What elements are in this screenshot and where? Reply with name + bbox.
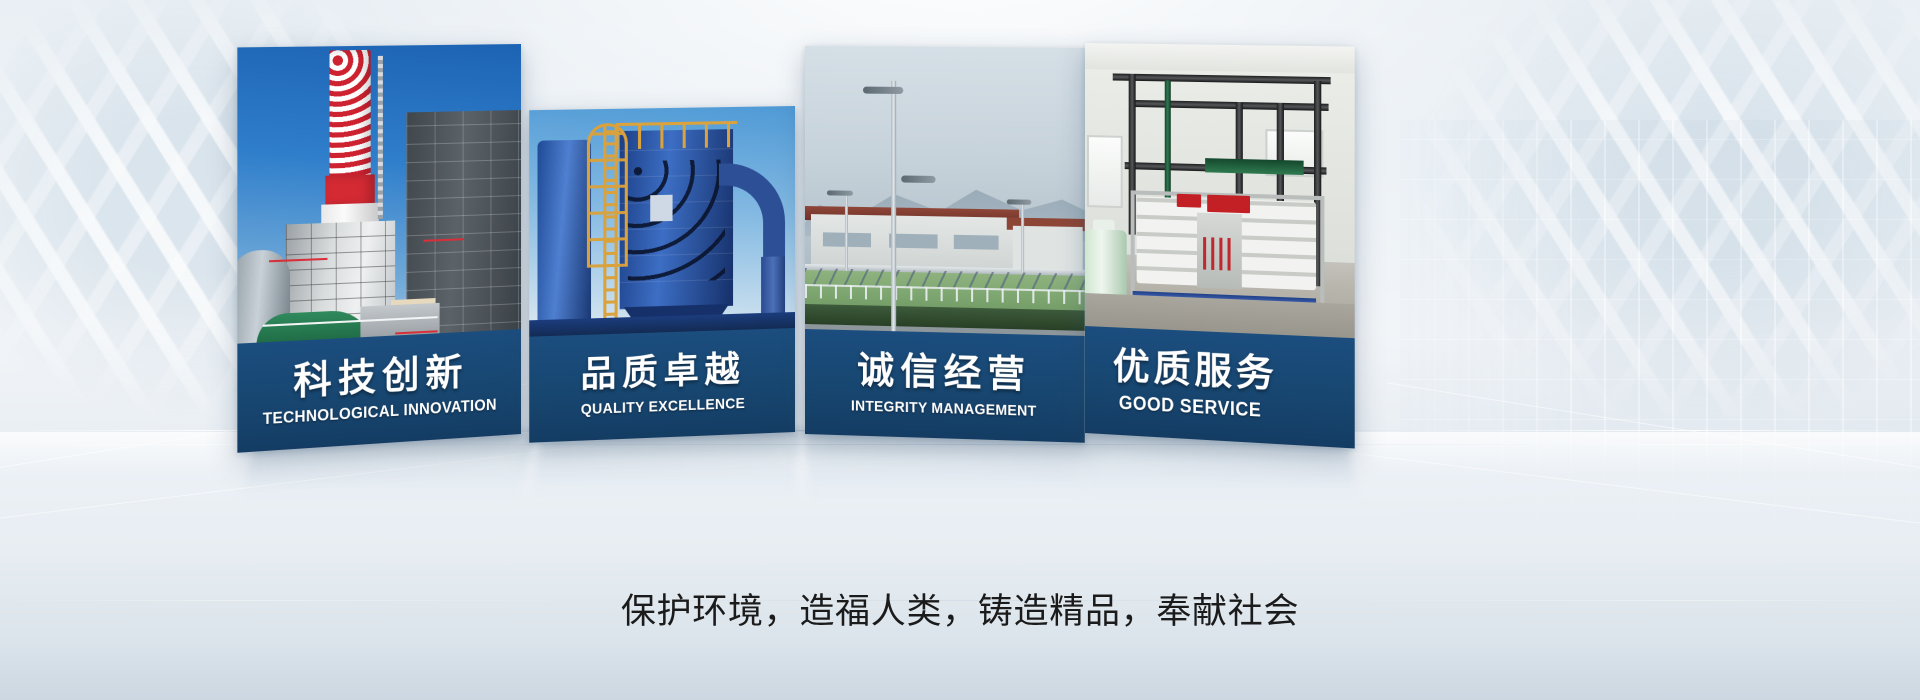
warning-sign-small <box>1177 194 1201 208</box>
panel-title-en-4: GOOD SERVICE <box>1119 393 1262 423</box>
cabinet-indicator-strip <box>1203 237 1236 271</box>
panel-caption-3: 诚信经营 INTEGRITY MANAGEMENT <box>805 329 1085 443</box>
panel-title-cn-2: 品质卓越 <box>581 351 746 394</box>
reverse-osmosis-room-photo <box>1085 43 1355 338</box>
feature-panel-integrity-management[interactable]: 诚信经营 INTEGRITY MANAGEMENT <box>805 46 1085 443</box>
access-door-bolts <box>628 159 725 282</box>
wastewater-treatment-plant-photo <box>805 46 1085 336</box>
spiral-smokestack-icon <box>330 50 371 180</box>
panel-caption-1: 科技创新 TECHNOLOGICAL INNOVATION <box>237 329 521 453</box>
feature-panel-technological-innovation[interactable]: 科技创新 TECHNOLOGICAL INNOVATION <box>237 44 521 453</box>
warning-sign-large <box>1207 195 1250 214</box>
lattice-mast <box>378 56 383 219</box>
green-pipe-horizontal <box>1205 158 1303 175</box>
industrial-smokestack-photo <box>237 44 521 344</box>
feature-panel-good-service[interactable]: 优质服务 GOOD SERVICE <box>1085 43 1355 448</box>
room-window-left <box>1087 135 1123 208</box>
street-lamp-pole-2 <box>845 193 848 271</box>
building-window-2 <box>889 234 937 249</box>
panel-title-en-2: QUALITY EXCELLENCE <box>581 395 745 418</box>
street-lamp-head-3 <box>827 190 853 195</box>
feature-panel-quality-excellence[interactable]: 品质卓越 QUALITY EXCELLENCE <box>529 106 795 443</box>
smokestack-red-band <box>325 174 374 206</box>
street-lamp-head-4 <box>1007 199 1032 204</box>
corporate-banner: 科技创新 TECHNOLOGICAL INNOVATION <box>0 0 1920 700</box>
yellow-ladder <box>603 125 617 328</box>
panel-title-en-3: INTEGRITY MANAGEMENT <box>851 397 1037 420</box>
panel-title-cn-4: 优质服务 <box>1113 347 1278 395</box>
building-window-3 <box>954 235 999 250</box>
street-lamp-head-2 <box>901 175 935 183</box>
room-ceiling <box>1085 43 1355 73</box>
blue-inlet-duct <box>538 140 592 337</box>
street-lamp-head-1 <box>863 87 903 94</box>
panel-caption-2: 品质卓越 QUALITY EXCELLENCE <box>529 328 795 443</box>
blue-dust-collector-photo <box>529 106 795 337</box>
street-lamp-pole-main <box>891 81 896 332</box>
feature-panel-group: 科技创新 TECHNOLOGICAL INNOVATION <box>0 0 1920 560</box>
panel-caption-4: 优质服务 GOOD SERVICE <box>1085 326 1355 448</box>
banner-tagline: 保护环境，造福人类，铸造精品，奉献社会 <box>0 583 1920 634</box>
control-panel-box <box>650 195 672 222</box>
street-lamp-pole-3 <box>1021 202 1024 273</box>
yellow-top-railing <box>616 121 737 149</box>
chemical-dosing-tank <box>1085 229 1127 303</box>
panel-title-cn-3: 诚信经营 <box>857 351 1031 395</box>
panel-title-cn-1: 科技创新 <box>293 352 468 402</box>
